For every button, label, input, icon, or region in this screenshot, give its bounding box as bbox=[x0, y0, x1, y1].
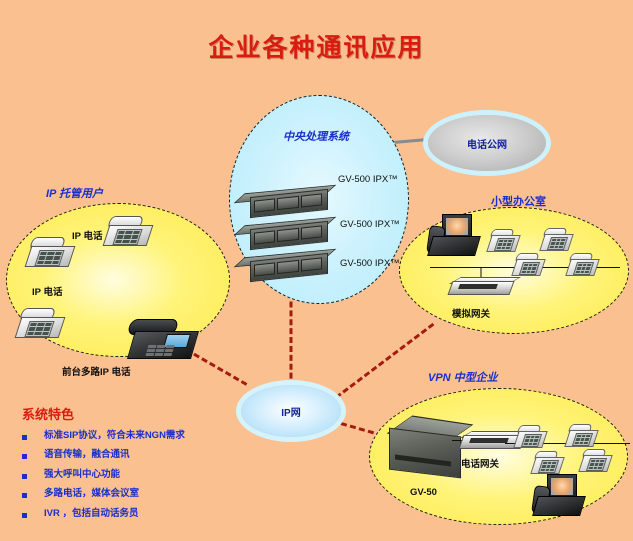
office-analog-phone-3[interactable] bbox=[513, 252, 543, 276]
ip-phone-label-1: IP 电话 bbox=[72, 228, 102, 242]
vpn-analog-phone-1[interactable] bbox=[515, 424, 545, 448]
bullet-icon bbox=[22, 493, 27, 498]
ip-phone-bottom[interactable] bbox=[16, 306, 62, 340]
gv50-label: GV-50 bbox=[410, 487, 437, 498]
diagram-canvas: 企业各种通讯应用 中央处理系统 GV-500 IPX™ GV-500 IPX™ … bbox=[0, 0, 633, 541]
feature-item: 标准SIP协议，符合未来NGN需求 bbox=[22, 431, 237, 441]
pstn-label: 电话公网 bbox=[467, 136, 507, 151]
front-desk-multiline-phone[interactable] bbox=[127, 315, 197, 363]
feature-label: 强大呼叫中心功能 bbox=[44, 470, 120, 480]
feature-item: IVR ，包括自动话务员 bbox=[22, 509, 237, 519]
link-central-to-ipnet bbox=[290, 302, 293, 388]
feature-label: 多路电话，媒体会议室 bbox=[44, 489, 139, 499]
analog-gateway-device[interactable] bbox=[450, 277, 514, 295]
page-title: 企业各种通讯应用 bbox=[0, 28, 633, 64]
ip-phone-label-2: IP 电话 bbox=[32, 284, 62, 298]
feature-item: 语音传输，融合通讯 bbox=[22, 450, 237, 460]
server-label-3: GV-500 IPX™ bbox=[340, 258, 400, 269]
feature-item: 多路电话，媒体会议室 bbox=[22, 489, 237, 499]
central-system-title: 中央处理系统 bbox=[283, 128, 349, 144]
public-telephone-network[interactable]: 电话公网 bbox=[428, 115, 546, 171]
video-phone-vpn[interactable] bbox=[533, 472, 585, 518]
feature-label: 语音传输，融合通讯 bbox=[44, 450, 130, 460]
video-phone-small-office[interactable] bbox=[428, 212, 480, 258]
ip-network-node[interactable]: IP网 bbox=[241, 385, 341, 437]
office-analog-phone-2[interactable] bbox=[541, 227, 571, 251]
server-gv500-1[interactable] bbox=[244, 189, 330, 215]
ip-phone-middle[interactable] bbox=[26, 235, 72, 269]
server-label-1: GV-500 IPX™ bbox=[338, 174, 398, 185]
gv50-device[interactable] bbox=[389, 420, 469, 476]
telephone-gateway-label: 电话网关 bbox=[461, 456, 499, 470]
bullet-icon bbox=[22, 435, 27, 440]
analog-gateway-label: 模拟网关 bbox=[452, 306, 490, 320]
feature-label: 标准SIP协议，符合未来NGN需求 bbox=[44, 431, 185, 441]
ip-network-label: IP网 bbox=[281, 404, 300, 419]
bullet-icon bbox=[22, 474, 27, 479]
vpn-enterprise-title: VPN 中型企业 bbox=[428, 369, 498, 385]
office-analog-phone-1[interactable] bbox=[488, 228, 518, 252]
link-ipnet-to-small-office bbox=[335, 323, 434, 399]
server-gv500-2[interactable] bbox=[244, 221, 330, 247]
front-desk-phone-label: 前台多路IP 电话 bbox=[62, 364, 130, 378]
server-label-2: GV-500 IPX™ bbox=[340, 219, 400, 230]
small-office-title: 小型办公室 bbox=[491, 193, 546, 209]
ip-hosted-users-title: IP 托管用户 bbox=[46, 185, 103, 201]
vpn-analog-phone-2[interactable] bbox=[566, 423, 596, 447]
bullet-icon bbox=[22, 513, 27, 518]
ip-phone-top[interactable] bbox=[104, 214, 150, 248]
feature-label: IVR ，包括自动话务员 bbox=[44, 509, 138, 519]
bullet-icon bbox=[22, 454, 27, 459]
server-gv500-3[interactable] bbox=[244, 253, 330, 279]
system-features-title: 系统特色 bbox=[22, 404, 237, 423]
system-features-panel: 系统特色 标准SIP协议，符合未来NGN需求 语音传输，融合通讯 强大呼叫中心功… bbox=[22, 404, 237, 528]
vpn-analog-phone-4[interactable] bbox=[580, 448, 610, 472]
vpn-analog-phone-3[interactable] bbox=[532, 450, 562, 474]
feature-item: 强大呼叫中心功能 bbox=[22, 470, 237, 480]
office-analog-phone-4[interactable] bbox=[567, 252, 597, 276]
